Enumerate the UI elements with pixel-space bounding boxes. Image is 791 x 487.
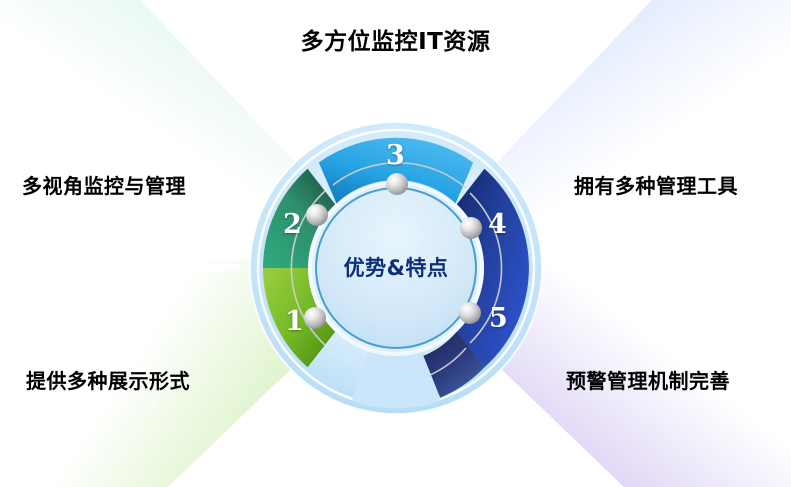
page-title: 多方位监控IT资源 [0, 22, 791, 56]
bullet-4 [460, 217, 482, 239]
center-label: 优势&特点 [306, 252, 486, 282]
bullet-1 [304, 307, 326, 329]
label-management-tools: 拥有多种管理工具 [574, 170, 738, 199]
ring-diagram [0, 0, 791, 487]
bullet-3 [386, 173, 408, 195]
bullet-5 [459, 302, 481, 324]
diagram-canvas: 1 2 3 4 5 优势&特点 多方位监控IT资源 多视角监控与管理 提供多种展… [0, 0, 791, 487]
bullet-2 [306, 204, 328, 226]
label-display-formats: 提供多种展示形式 [26, 365, 190, 394]
label-multi-view-monitoring: 多视角监控与管理 [22, 170, 186, 199]
label-alert-mechanism: 预警管理机制完善 [566, 365, 730, 394]
